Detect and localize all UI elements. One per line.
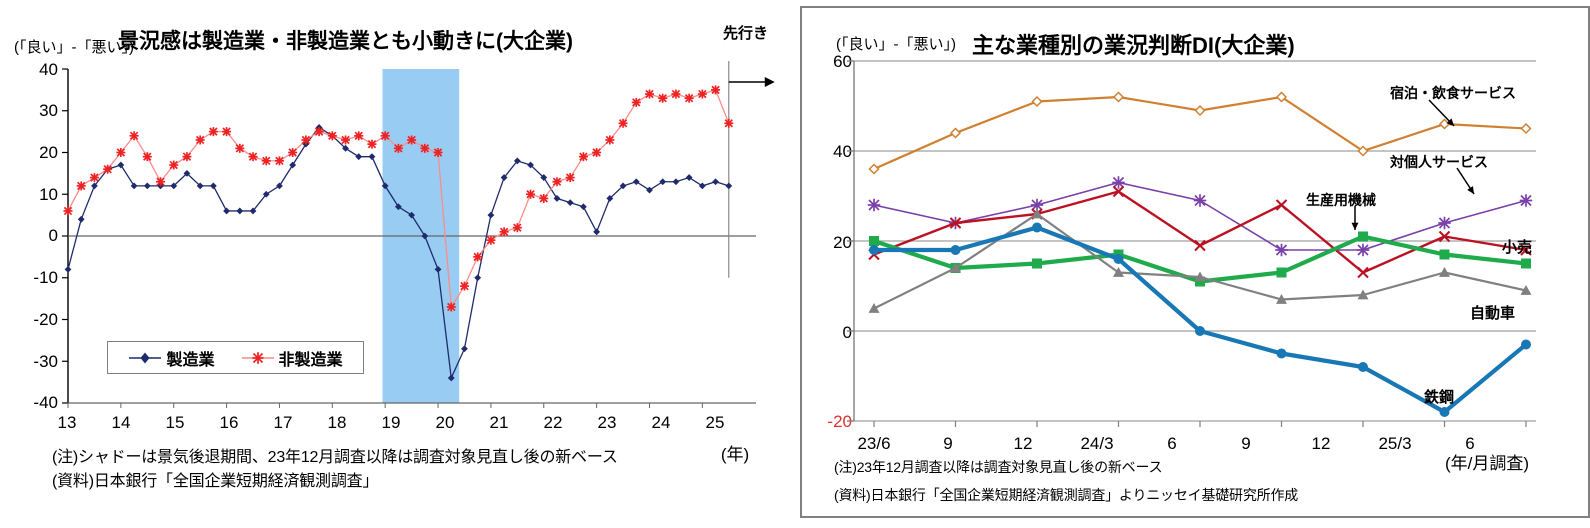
figure-root: (「良い」-「悪い」) 景況感は製造業・非製造業とも小動きに(大企業) 先行き … [0, 0, 1590, 528]
left-xaxis-unit: (年) [700, 446, 770, 463]
legend-label-manufacturing: 製造業 [166, 346, 214, 370]
right-chart-panel: (「良い」-「悪い」) 主な業種別の業況判断DI(大企業) 60 40 20 0… [800, 6, 1590, 518]
annotation-production-machinery: 生産用機械 [1306, 190, 1376, 210]
annotation-hotel-food-service: 宿泊・飲食サービス [1390, 83, 1516, 103]
right-note-1: (注)23年12月調査以降は調査対象見直し後の新ベース [834, 457, 1162, 477]
left-chart-panel: (「良い」-「悪い」) 景況感は製造業・非製造業とも小動きに(大企業) 先行き … [0, 0, 798, 528]
legend-item-nonmanufacturing: 非製造業 [241, 346, 343, 370]
annotation-retail: 小売 [1502, 236, 1532, 257]
left-note-1: (注)シャドーは景気後退期間、23年12月調査以降は調査対象見直し後の新ベース [52, 443, 618, 467]
legend-item-manufacturing: 製造業 [128, 346, 214, 370]
right-note-2: (資料)日本銀行「全国企業短期経済観測調査」よりニッセイ基礎研究所作成 [834, 485, 1298, 505]
legend-marker-diamond-icon [128, 350, 162, 366]
legend-marker-star-icon [241, 350, 275, 366]
legend-label-nonmanufacturing: 非製造業 [279, 346, 343, 370]
right-xaxis-unit: (年/月調査) [1422, 455, 1552, 472]
annotation-steel: 鉄鋼 [1424, 386, 1454, 407]
left-legend: 製造業 非製造業 [107, 341, 364, 374]
annotation-personal-service: 対個人サービス [1390, 152, 1488, 172]
annotation-automobile: 自動車 [1470, 302, 1515, 323]
left-note-2: (資料)日本銀行「全国企業短期経済観測調査」 [52, 467, 378, 491]
